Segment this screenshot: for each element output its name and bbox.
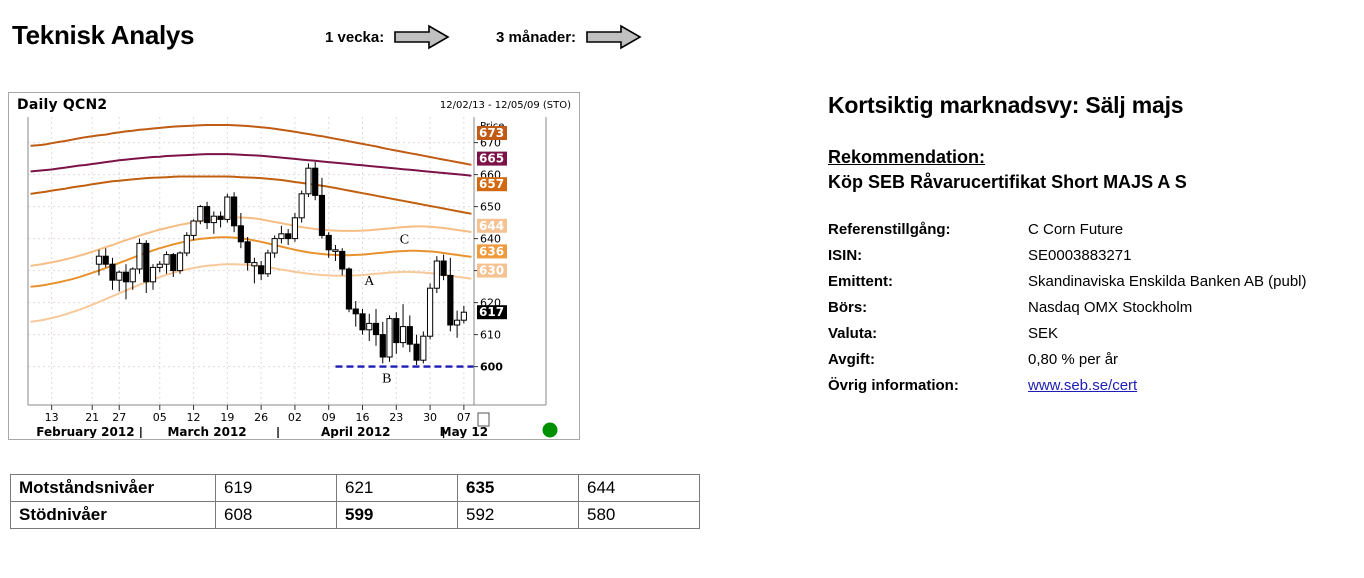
candle-body-down xyxy=(218,216,223,219)
levels-cell: 608 xyxy=(216,502,337,529)
candle-body-down xyxy=(110,264,115,280)
status-dot-icon xyxy=(543,423,558,438)
candlestick xyxy=(387,315,392,361)
candle-body-up xyxy=(177,253,182,271)
fact-value: SEK xyxy=(1028,325,1307,351)
fact-key: Börs: xyxy=(828,299,1028,325)
fact-key: Övrig information: xyxy=(828,377,1028,403)
price-chart-panel: Daily QCN2 12/02/13 - 12/05/09 (STO) ABC… xyxy=(8,92,580,440)
price-marker-label: 657 xyxy=(479,177,504,191)
chart-date-range: 12/02/13 - 12/05/09 (STO) xyxy=(440,100,571,111)
horizon-1-week-label: 1 vecka: xyxy=(325,29,384,46)
recommendation-title: Kortsiktig marknadsvy: Sälj majs xyxy=(828,92,1358,119)
price-marker-label: 644 xyxy=(479,219,504,233)
candle-body-up xyxy=(387,319,392,357)
arrow-right-flat-icon xyxy=(585,24,643,50)
candle-body-down xyxy=(238,226,243,242)
fact-row: Avgift:0,80 % per år xyxy=(828,351,1307,377)
candle-body-down xyxy=(171,255,176,271)
x-month-label: May 12 xyxy=(440,425,488,438)
price-marker: 636 xyxy=(477,244,507,258)
candle-body-up xyxy=(400,327,405,343)
candle-body-down xyxy=(380,335,385,357)
candle-body-up xyxy=(434,261,439,288)
candlestick-plot: ABCPrice60061062063064065066067067366565… xyxy=(16,115,572,438)
levels-cell: 592 xyxy=(458,502,579,529)
candle-body-up xyxy=(137,243,142,269)
horizon-1-week: 1 vecka: xyxy=(325,24,451,50)
fact-value: Nasdaq OMX Stockholm xyxy=(1028,299,1307,325)
y-tick-label: 650 xyxy=(480,201,501,214)
x-tick-label: 02 xyxy=(288,411,302,424)
horizon-3-months: 3 månader: xyxy=(496,24,643,50)
candle-body-down xyxy=(340,251,345,269)
candle-body-down xyxy=(360,314,365,330)
y-tick-label: 600 xyxy=(480,361,503,374)
candle-body-up xyxy=(150,267,155,281)
page-header: Teknisk Analys 1 vecka: 3 månader: xyxy=(0,0,1364,72)
price-marker-label: 673 xyxy=(479,126,504,140)
candle-body-down xyxy=(204,207,209,223)
x-tick-label: 30 xyxy=(423,411,437,424)
candlestick xyxy=(421,331,426,363)
price-marker: 617 xyxy=(477,305,507,319)
price-marker-label: 617 xyxy=(479,305,504,319)
price-marker-label: 630 xyxy=(479,264,504,278)
price-marker: 665 xyxy=(477,152,507,166)
x-tick-label: 27 xyxy=(112,411,126,424)
candle-body-down xyxy=(103,256,108,264)
levels-table-body: Motståndsnivåer619621635644Stödnivåer608… xyxy=(11,475,700,529)
fact-row: ISIN:SE0003883271 xyxy=(828,247,1307,273)
x-month-label: March 2012 xyxy=(167,425,246,438)
recommendation-product: Köp SEB Råvarucertifikat Short MAJS A S xyxy=(828,172,1358,193)
candlestick xyxy=(306,163,311,197)
candle-body-down xyxy=(326,235,331,249)
product-facts-table: Referenstillgång:C Corn FutureISIN:SE000… xyxy=(828,221,1307,403)
price-marker: 657 xyxy=(477,177,507,191)
x-tick-label: 16 xyxy=(356,411,370,424)
candle-body-down xyxy=(313,168,318,195)
chart-annotation-b: B xyxy=(382,372,391,387)
x-tick-label: 12 xyxy=(187,411,201,424)
fact-value: Skandinaviska Enskilda Banken AB (publ) xyxy=(1028,273,1307,299)
candle-body-down xyxy=(373,323,378,334)
fact-key: Emittent: xyxy=(828,273,1028,299)
candle-body-down xyxy=(414,344,419,360)
levels-cell: 599 xyxy=(337,502,458,529)
external-link[interactable]: www.seb.se/cert xyxy=(1028,377,1137,394)
chart-annotation-a: A xyxy=(364,274,375,289)
x-month-label: February 2012 xyxy=(36,425,134,438)
x-tick-label: 21 xyxy=(85,411,99,424)
recommendation-heading: Rekommendation: xyxy=(828,147,985,168)
chart-annotation-c: C xyxy=(400,232,409,247)
fact-value: C Corn Future xyxy=(1028,221,1307,247)
candle-body-up xyxy=(333,250,338,252)
fact-key: Referenstillgång: xyxy=(828,221,1028,247)
recommendation-panel: Kortsiktig marknadsvy: Sälj majs Rekomme… xyxy=(828,92,1358,403)
x-tick-label: 26 xyxy=(254,411,268,424)
candlestick xyxy=(265,250,270,277)
chart-plot-area: ABCPrice60061062063064065066067067366565… xyxy=(16,115,572,438)
candlestick xyxy=(137,239,142,274)
fact-row: Valuta:SEK xyxy=(828,325,1307,351)
x-tick-label: 19 xyxy=(220,411,234,424)
candlestick xyxy=(232,192,237,232)
candlestick xyxy=(225,194,230,223)
candle-body-down xyxy=(394,319,399,343)
candle-body-down xyxy=(245,242,250,263)
price-marker-label: 665 xyxy=(479,152,504,166)
levels-table: Motståndsnivåer619621635644Stödnivåer608… xyxy=(10,474,700,529)
candlestick xyxy=(198,205,203,224)
candlestick xyxy=(292,213,297,242)
candle-body-up xyxy=(117,272,122,280)
x-tick-label: 13 xyxy=(45,411,59,424)
candlestick xyxy=(427,283,432,339)
fact-value[interactable]: www.seb.se/cert xyxy=(1028,377,1307,403)
candle-body-down xyxy=(319,195,324,235)
price-marker: 630 xyxy=(477,264,507,278)
price-marker-label: 636 xyxy=(479,244,504,258)
candlestick xyxy=(299,191,304,223)
candle-body-up xyxy=(191,221,196,235)
candle-body-up xyxy=(130,269,135,282)
levels-cell: 580 xyxy=(579,502,700,529)
candlestick xyxy=(434,256,439,293)
x-tick-label: 07 xyxy=(457,411,471,424)
plot-background xyxy=(28,117,474,405)
levels-row-label: Stödnivåer xyxy=(11,502,216,529)
x-tick-label: 05 xyxy=(153,411,167,424)
fact-key: Valuta: xyxy=(828,325,1028,351)
candlestick xyxy=(177,251,182,273)
arrow-right-flat-icon xyxy=(393,24,451,50)
candle-body-down xyxy=(259,266,264,274)
candle-body-up xyxy=(272,239,277,253)
price-marker: 644 xyxy=(477,219,507,233)
candle-body-up xyxy=(265,253,270,274)
candle-body-up xyxy=(252,263,257,266)
x-month-label: April 2012 xyxy=(321,425,391,438)
candle-body-up xyxy=(279,234,284,239)
fact-row: Börs:Nasdaq OMX Stockholm xyxy=(828,299,1307,325)
candle-body-up xyxy=(96,256,101,264)
candle-body-up xyxy=(211,216,216,222)
candle-body-down xyxy=(144,243,149,281)
candlestick xyxy=(346,267,351,312)
fact-key: Avgift: xyxy=(828,351,1028,377)
candle-body-down xyxy=(286,234,291,239)
candlestick xyxy=(184,232,189,256)
fact-key: ISIN: xyxy=(828,247,1028,273)
candle-body-up xyxy=(461,312,466,320)
candle-body-down xyxy=(346,269,351,309)
candle-body-down xyxy=(123,272,128,282)
table-row: Motståndsnivåer619621635644 xyxy=(11,475,700,502)
candle-body-down xyxy=(353,309,358,314)
x-tick-label: 09 xyxy=(322,411,336,424)
fact-value: SE0003883271 xyxy=(1028,247,1307,273)
price-marker: 673 xyxy=(477,126,507,140)
candle-body-up xyxy=(455,320,460,325)
candle-body-up xyxy=(164,255,169,265)
fact-value: 0,80 % per år xyxy=(1028,351,1307,377)
product-facts-body: Referenstillgång:C Corn FutureISIN:SE000… xyxy=(828,221,1307,403)
levels-row-label: Motståndsnivåer xyxy=(11,475,216,502)
candle-body-up xyxy=(292,218,297,239)
x-tick-label: 23 xyxy=(389,411,403,424)
table-row: Stödnivåer608599592580 xyxy=(11,502,700,529)
candle-body-up xyxy=(198,207,203,221)
candle-body-up xyxy=(225,197,230,219)
candle-body-down xyxy=(441,261,446,275)
levels-cell: 644 xyxy=(579,475,700,502)
levels-cell: 619 xyxy=(216,475,337,502)
chart-title: Daily QCN2 xyxy=(17,97,107,113)
candle-body-up xyxy=(157,264,162,267)
y-tick-label: 610 xyxy=(480,329,501,342)
levels-cell: 635 xyxy=(458,475,579,502)
fact-row: Emittent:Skandinaviska Enskilda Banken A… xyxy=(828,273,1307,299)
levels-cell: 621 xyxy=(337,475,458,502)
candle-body-up xyxy=(184,235,189,253)
horizon-3-months-label: 3 månader: xyxy=(496,29,576,46)
candle-body-up xyxy=(299,194,304,218)
page-title: Teknisk Analys xyxy=(12,20,194,51)
candle-body-down xyxy=(448,275,453,325)
candle-body-up xyxy=(427,288,432,336)
candle-body-down xyxy=(232,197,237,226)
candle-body-down xyxy=(407,327,412,345)
candle-body-up xyxy=(421,336,426,360)
candle-body-up xyxy=(367,323,372,329)
candle-body-up xyxy=(306,168,311,194)
fact-row: Referenstillgång:C Corn Future xyxy=(828,221,1307,247)
fact-row: Övrig information:www.seb.se/cert xyxy=(828,377,1307,403)
